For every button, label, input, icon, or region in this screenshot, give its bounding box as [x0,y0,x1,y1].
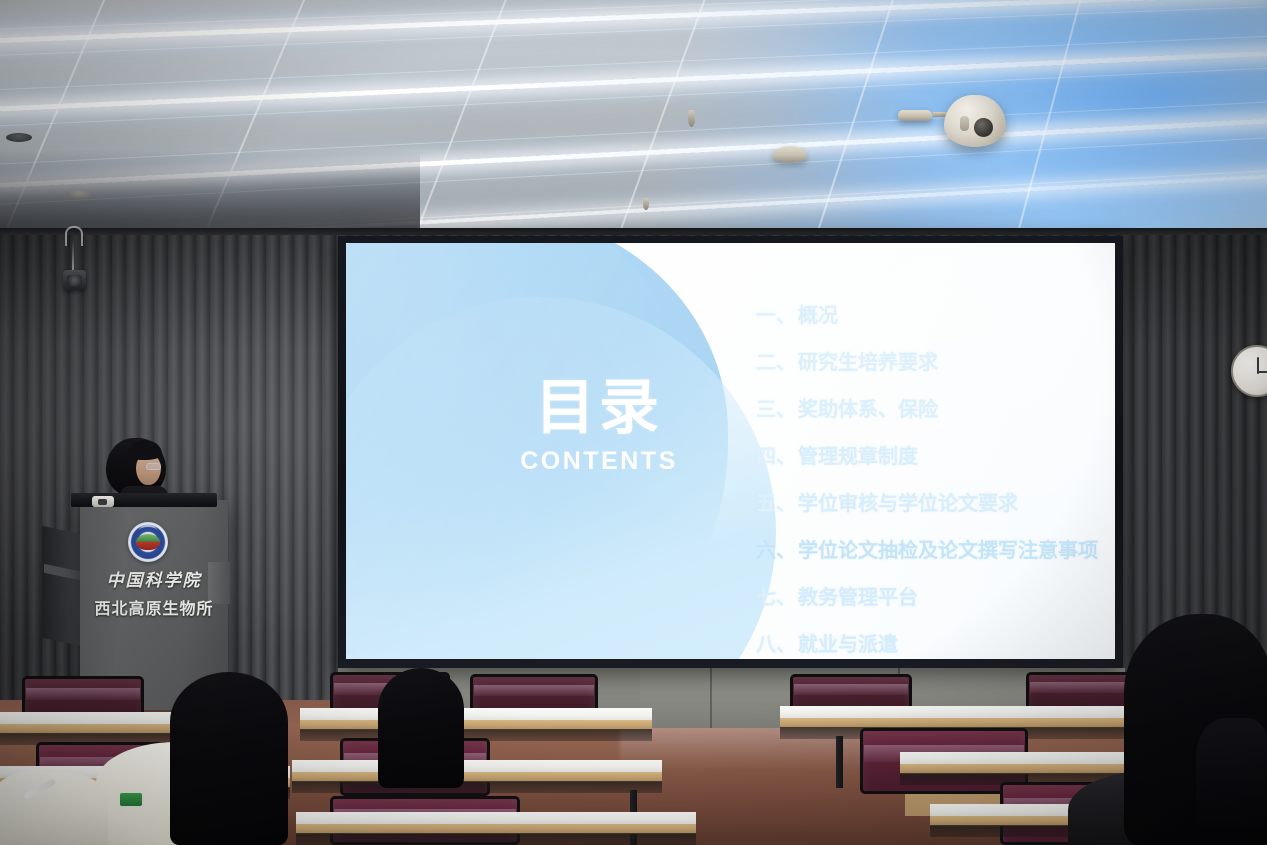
toc-item-number: 六、 [756,534,798,563]
toc-item-number: 二、 [756,346,798,375]
projection-screen-frame: 目录 CONTENTS 一、 概况 二、 研究生培养要求 三、 奖助体系、保险 … [338,236,1123,668]
wall-top-edge [0,228,1267,235]
slide-title-cn: 目录 [464,378,734,438]
toc-item: 一、 概况 [756,299,1114,328]
desk[interactable] [292,760,662,796]
audience-person [378,668,464,788]
desk[interactable] [296,812,696,845]
toc-item: 四、 管理规章制度 [756,440,1114,469]
toc-item-label: 管理规章制度 [798,440,918,469]
fire-sprinkler-icon [643,198,649,210]
toc-item-number: 七、 [756,581,798,610]
ceiling [0,0,1267,242]
toc-item-number: 一、 [756,299,798,328]
toc-item: 二、 研究生培养要求 [756,346,1114,375]
toc-item: 七、 教务管理平台 [756,581,1114,610]
desk[interactable] [300,708,652,742]
slide-title: 目录 CONTENTS [464,378,734,476]
toc-item-label: 学位论文抽检及论文撰写注意事项 [798,534,1098,563]
toc-item-number: 三、 [756,393,798,422]
podium-org-line1: 中国科学院 [80,566,228,591]
podium-side-panel [42,526,82,647]
audience-person [170,672,288,845]
smoke-detector-icon [773,146,807,162]
toc-item: 六、 学位论文抽检及论文撰写注意事项 [756,534,1114,563]
fire-sprinkler-icon [688,110,695,127]
toc-item-label: 奖助体系、保险 [798,393,938,422]
toc-item-label: 学位审核与学位论文要求 [798,487,1018,516]
toc-item: 三、 奖助体系、保险 [756,393,1114,422]
smoke-detector-icon [898,110,932,121]
glasses-icon [146,463,161,470]
toc-item-number: 八、 [756,628,798,657]
toc-item-label: 教务管理平台 [798,581,918,610]
desk-leg [836,736,843,788]
presenter [106,438,170,500]
name-badge [120,793,142,806]
dome-camera-icon [944,95,1006,147]
toc-item-number: 四、 [756,440,798,469]
slide-toc-list: 一、 概况 二、 研究生培养要求 三、 奖助体系、保险 四、 管理规章制度 五、 [756,299,1114,659]
toc-item-label: 概况 [798,299,838,328]
projection-screen[interactable]: 目录 CONTENTS 一、 概况 二、 研究生培养要求 三、 奖助体系、保险 … [346,243,1115,659]
podium-org-line2: 西北高原生物所 [80,595,228,619]
ceiling-recess [6,133,32,142]
toc-item-label: 研究生培养要求 [798,346,938,375]
toc-item-number: 五、 [756,487,798,516]
slide-title-en: CONTENTS [464,447,734,476]
toc-item-label: 就业与派遣 [798,628,898,657]
lecture-hall-scene: 目录 CONTENTS 一、 概况 二、 研究生培养要求 三、 奖助体系、保险 … [0,0,1267,845]
toc-item: 五、 学位审核与学位论文要求 [756,487,1114,516]
presenter-fringe [128,440,162,460]
speaker-cable [72,240,74,272]
audience-person-ponytail [1196,718,1267,845]
wall-speaker-icon [63,270,86,290]
toc-item: 八、 就业与派遣 [756,628,1114,657]
microphone-icon [92,496,114,507]
podium-organization-text: 中国科学院 西北高原生物所 [80,566,228,619]
cas-emblem-icon [128,522,168,562]
